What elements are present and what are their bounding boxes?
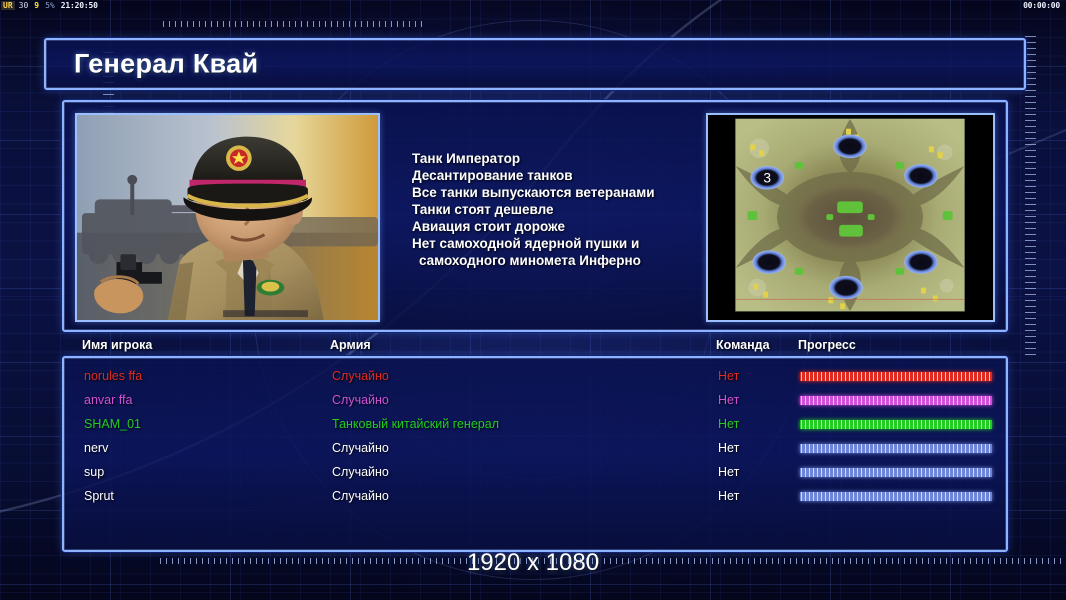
player-team: Нет [718, 393, 739, 407]
map-preview[interactable]: 3 [706, 113, 995, 322]
player-progress-fill [800, 492, 992, 501]
player-rows: norules ffaСлучайноНетanvar ffaСлучайноН… [64, 364, 1006, 508]
player-team: Нет [718, 369, 739, 383]
player-name: anvar ffa [84, 393, 132, 407]
description-line: Десантирование танков [412, 167, 712, 184]
player-name: nerv [84, 441, 108, 455]
ruler-top [163, 21, 423, 31]
player-name: SHAM_01 [84, 417, 141, 431]
resolution-label: 1920 x 1080 [0, 549, 1066, 577]
ruler-right [1025, 36, 1036, 356]
player-progress-bar [800, 396, 992, 405]
player-team: Нет [718, 489, 739, 503]
player-progress-bar [800, 468, 992, 477]
game-timer: 00:00:00 [1021, 1, 1062, 10]
status-clock: 21:20:50 [59, 1, 100, 10]
status-value-3: 5% [43, 1, 57, 10]
player-list-panel: norules ffaСлучайноНетanvar ffaСлучайноН… [62, 356, 1008, 552]
player-progress-bar [800, 444, 992, 453]
player-progress-bar [800, 372, 992, 381]
column-header-team: Команда [716, 338, 770, 352]
page-title: Генерал Квай [74, 49, 258, 80]
player-team: Нет [718, 441, 739, 455]
column-header-name: Имя игрока [82, 338, 152, 352]
description-line: Авиация стоит дороже [412, 218, 712, 235]
player-army: Случайно [332, 489, 389, 503]
player-army: Случайно [332, 369, 389, 383]
player-progress-fill [800, 420, 992, 429]
table-row[interactable]: SHAM_01Танковый китайский генералНет [64, 412, 1006, 436]
player-army: Случайно [332, 465, 389, 479]
player-progress-bar [800, 420, 992, 429]
player-progress-fill [800, 444, 992, 453]
table-row[interactable]: SprutСлучайноНет [64, 484, 1006, 508]
table-header-row: Имя игрока Армия Команда Прогресс [62, 338, 1008, 358]
title-panel: Генерал Квай [44, 38, 1026, 90]
info-panel: Танк Император Десантирование танков Все… [62, 100, 1008, 332]
player-progress-fill [800, 396, 992, 405]
player-name: norules ffa [84, 369, 142, 383]
map-marker-label: 3 [763, 171, 771, 186]
status-value-2: 9 [32, 1, 41, 10]
table-row[interactable]: supСлучайноНет [64, 460, 1006, 484]
table-row[interactable]: norules ffaСлучайноНет [64, 364, 1006, 388]
player-progress-fill [800, 372, 992, 381]
player-army: Случайно [332, 393, 389, 407]
column-header-army: Армия [330, 338, 371, 352]
description-line: Танки стоят дешевле [412, 201, 712, 218]
status-bar: UR 30 9 5% 21:20:50 [0, 0, 103, 11]
player-name: Sprut [84, 489, 114, 503]
description-line: Все танки выпускаются ветеранами [412, 184, 712, 201]
table-row[interactable]: anvar ffaСлучайноНет [64, 388, 1006, 412]
player-team: Нет [718, 417, 739, 431]
player-progress-fill [800, 468, 992, 477]
player-progress-bar [800, 492, 992, 501]
player-army: Танковый китайский генерал [332, 417, 499, 431]
column-header-progress: Прогресс [798, 338, 856, 352]
general-description: Танк Император Десантирование танков Все… [412, 150, 712, 269]
status-value-1: 30 [17, 1, 31, 10]
description-line: Танк Император [412, 150, 712, 167]
general-portrait [75, 113, 380, 322]
description-line: самоходного миномета Инферно [412, 252, 712, 269]
player-army: Случайно [332, 441, 389, 455]
description-line: Нет самоходной ядерной пушки и [412, 235, 712, 252]
player-name: sup [84, 465, 104, 479]
table-row[interactable]: nervСлучайноНет [64, 436, 1006, 460]
player-team: Нет [718, 465, 739, 479]
status-label: UR [1, 1, 15, 10]
